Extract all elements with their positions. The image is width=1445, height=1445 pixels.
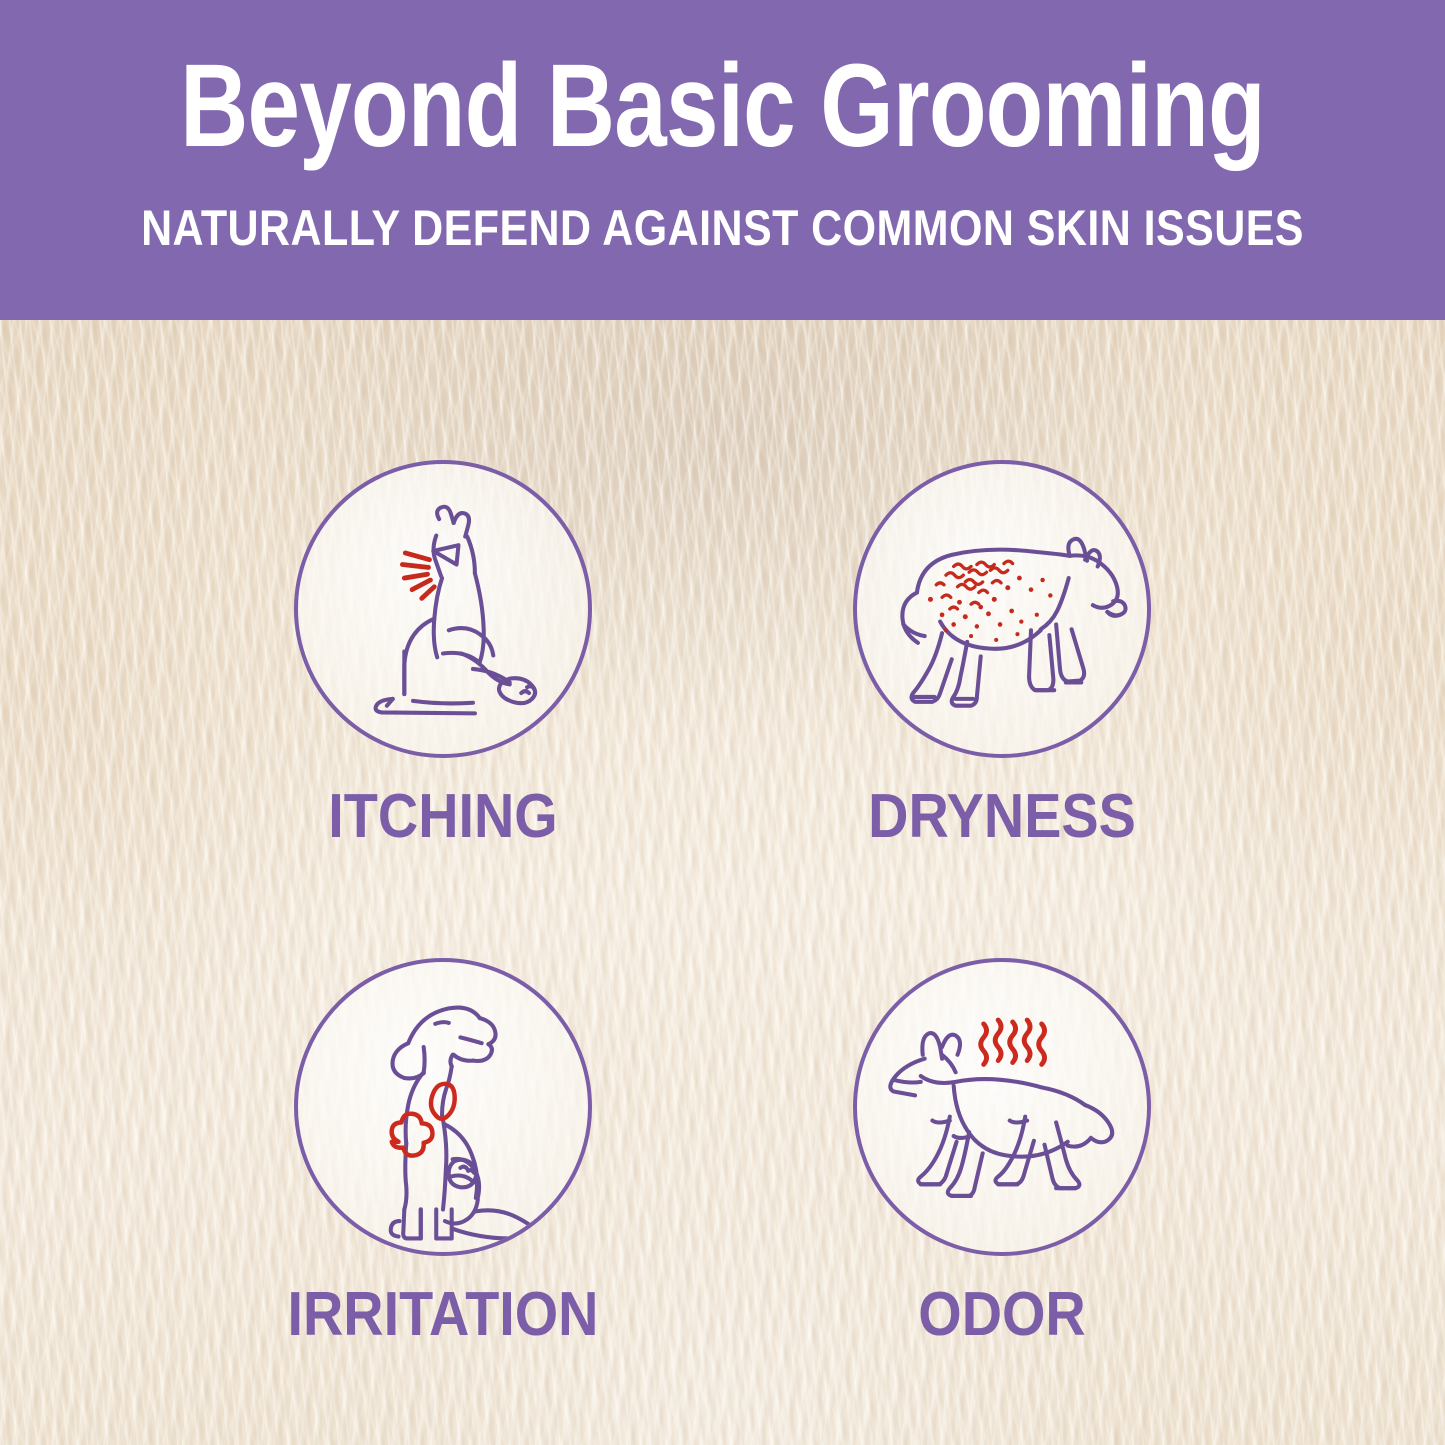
scratch-lines-accent	[402, 553, 434, 598]
dandruff-dots-accent	[928, 576, 1053, 642]
grid-item-dryness[interactable]: DRYNESS	[722, 460, 1282, 850]
header-banner: Beyond Basic Grooming NATURALLY DEFEND A…	[0, 0, 1445, 320]
odor-wave-accent	[981, 1020, 1045, 1064]
grid-item-itching[interactable]: ITCHING	[163, 460, 723, 850]
benefit-label-itching: ITCHING	[191, 784, 695, 850]
dandruff-flakes-accent	[936, 561, 1012, 609]
icon-circle-irritation	[294, 958, 592, 1256]
page-title: Beyond Basic Grooming	[145, 46, 1301, 166]
dog-irritated-skin-icon	[298, 962, 588, 1252]
page-subtitle: NATURALLY DEFEND AGAINST COMMON SKIN ISS…	[101, 200, 1344, 256]
grid-item-odor[interactable]: ODOR	[722, 958, 1282, 1348]
grid-item-irritation[interactable]: IRRITATION	[163, 958, 723, 1348]
dog-odor-icon	[857, 962, 1147, 1252]
benefit-grid: ITCHING	[0, 320, 1445, 1445]
benefit-label-irritation: IRRITATION	[191, 1282, 695, 1348]
dog-flaky-skin-icon	[857, 464, 1147, 754]
dog-scratching-icon	[298, 464, 588, 754]
icon-circle-itching	[294, 460, 592, 758]
benefit-label-dryness: DRYNESS	[750, 784, 1254, 850]
benefit-label-odor: ODOR	[750, 1282, 1254, 1348]
infographic-page: Beyond Basic Grooming NATURALLY DEFEND A…	[0, 0, 1445, 1445]
icon-circle-dryness	[853, 460, 1151, 758]
icon-circle-odor	[853, 958, 1151, 1256]
